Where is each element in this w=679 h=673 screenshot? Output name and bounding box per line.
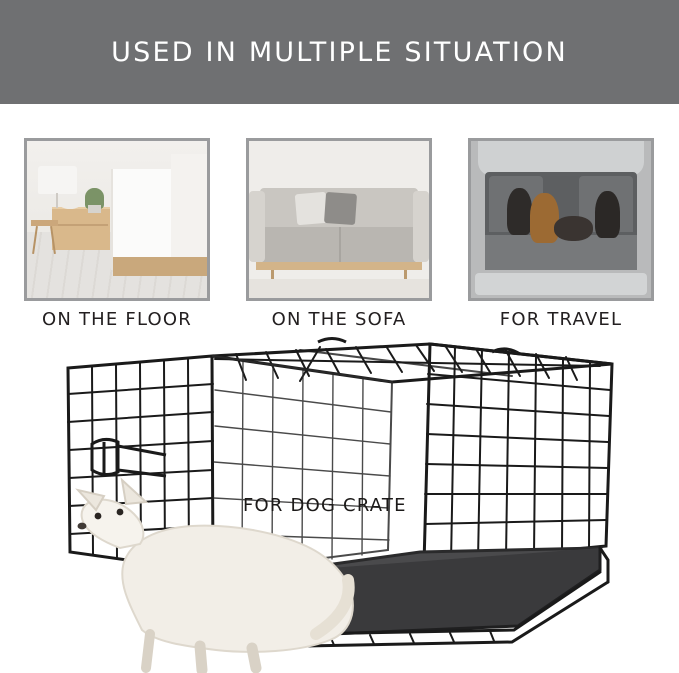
sofa-seat-divider: [339, 227, 341, 262]
scene-thumbnail-sofa: [246, 138, 432, 301]
lamp-stem: [56, 193, 58, 209]
scene-card-row: ON THE FLOOR ON THE SOFA FOR TRAVEL: [0, 104, 679, 334]
scene-thumbnail-travel: [468, 138, 654, 301]
sofa-cushion-light: [294, 192, 327, 226]
main-product-photo: FOR DOG CRATE: [0, 334, 679, 673]
header-banner: USED IN MULTIPLE SITUATION: [0, 0, 679, 104]
caption-for-dog-crate: FOR DOG CRATE: [243, 495, 407, 516]
car-hatch-door: [478, 141, 644, 176]
caption-for-travel: FOR TRAVEL: [468, 309, 654, 330]
nightstand-edge: [54, 224, 108, 226]
crate-top: [212, 344, 612, 382]
sofa-room-floor: [249, 279, 429, 298]
lamp-icon: [38, 166, 78, 194]
sofa-arm-right: [413, 191, 429, 262]
caption-on-the-sofa: ON THE SOFA: [246, 309, 432, 330]
dog-black-right: [595, 191, 620, 238]
sofa-arm-left: [249, 191, 265, 262]
car-trunk-floor: [485, 235, 636, 270]
sofa-wooden-base: [256, 262, 422, 270]
plant-pot: [88, 205, 101, 213]
page-title: USED IN MULTIPLE SITUATION: [111, 37, 568, 68]
dog-black-left: [507, 188, 532, 235]
dog-brown: [530, 193, 559, 243]
dog-dachshund: [554, 216, 594, 241]
bowl-icon: [59, 198, 81, 209]
stool-seat: [31, 220, 58, 226]
car-bumper: [475, 273, 648, 295]
sofa-cushion-dark: [324, 192, 357, 225]
nightstand: [52, 207, 110, 250]
bed-base: [113, 257, 207, 276]
crate-side-panel: [424, 344, 612, 564]
product-infographic: USED IN MULTIPLE SITUATION: [0, 0, 679, 673]
caption-on-the-floor: ON THE FLOOR: [24, 309, 210, 330]
bed-headboard: [171, 154, 207, 258]
scene-thumbnail-floor: [24, 138, 210, 301]
